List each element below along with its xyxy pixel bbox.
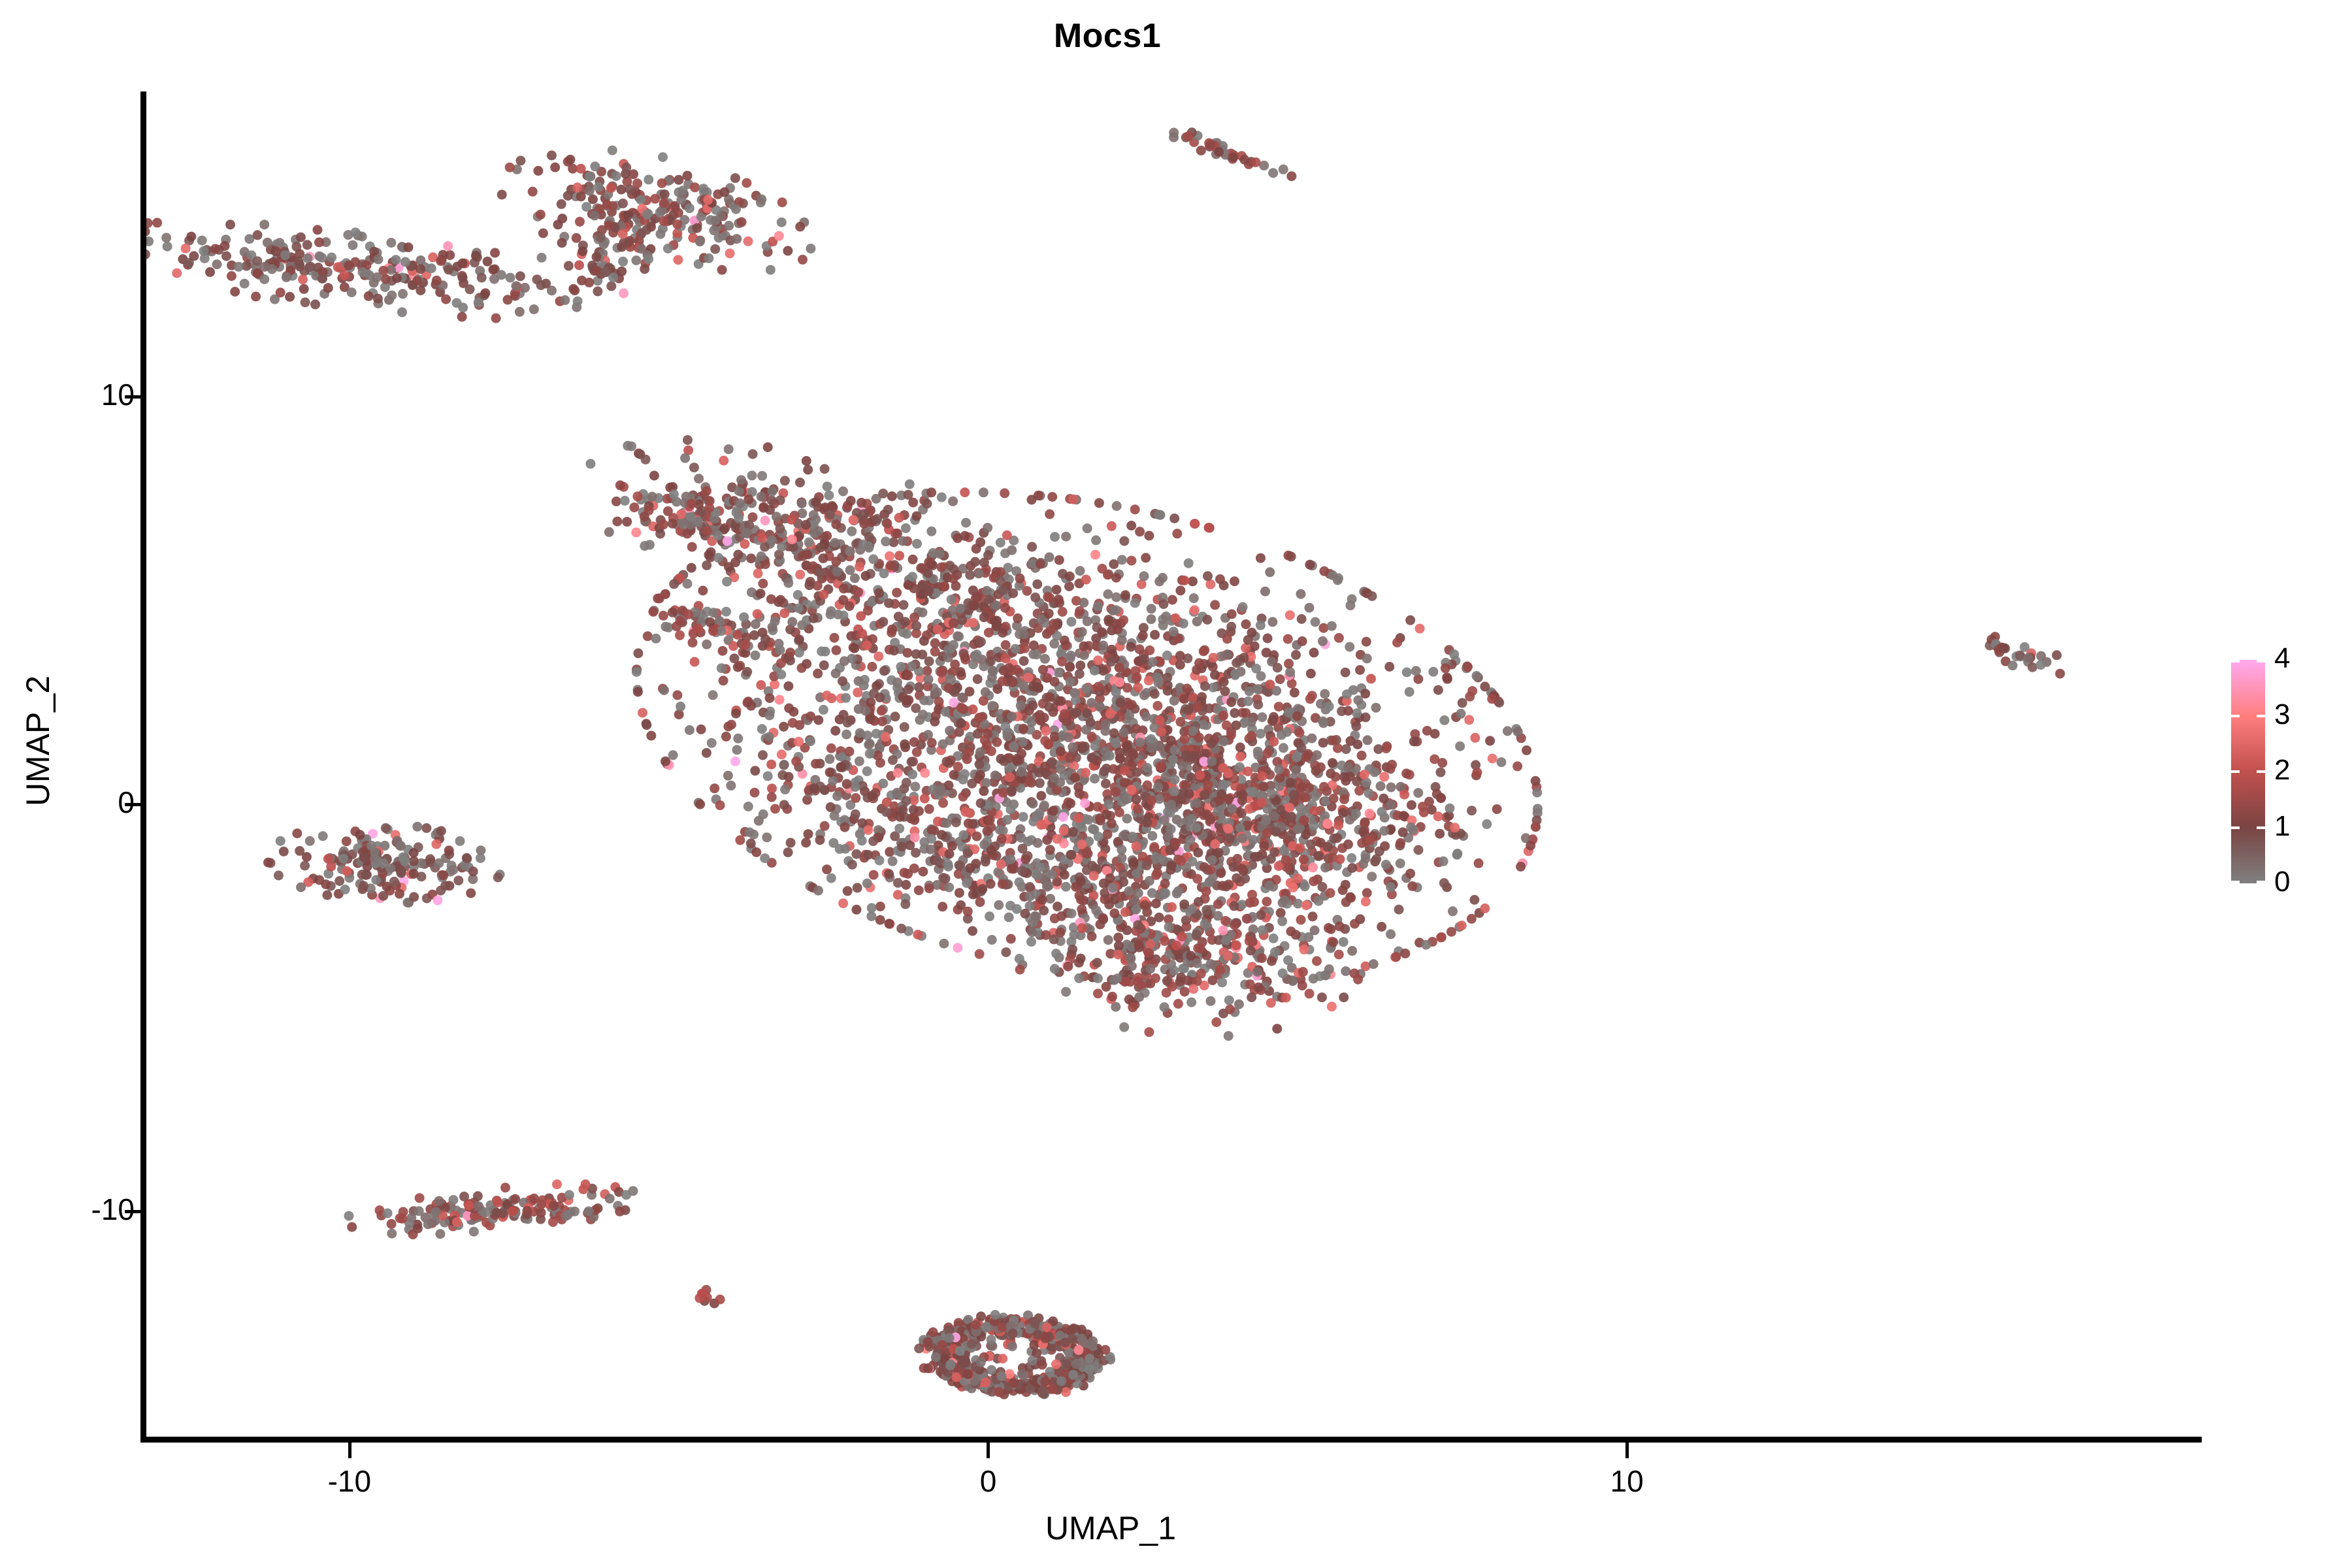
colorbar-tick-label: 1 <box>2274 812 2290 841</box>
colorbar-tick-mark <box>2257 660 2265 662</box>
y-axis-line <box>140 91 146 1443</box>
colorbar-legend: 01234 <box>2231 660 2336 895</box>
x-tick-label: 10 <box>1529 1463 1725 1499</box>
colorbar-tick-mark <box>2257 770 2265 773</box>
colorbar-tick-label: 0 <box>2274 868 2290 896</box>
colorbar-tick-mark <box>2231 881 2240 883</box>
scatter-points-layer <box>145 91 2202 1439</box>
plot-panel <box>145 91 2202 1439</box>
colorbar-tick-label: 4 <box>2274 644 2290 673</box>
page-title: Mocs1 <box>0 18 2215 54</box>
y-axis-title: UMAP_2 <box>19 414 57 1068</box>
colorbar-tick-mark <box>2257 826 2265 829</box>
x-tick-label: -10 <box>252 1463 448 1499</box>
colorbar-tick-mark <box>2231 826 2240 829</box>
y-tick-label: -10 <box>4 1192 135 1227</box>
colorbar-tick-mark <box>2257 881 2265 883</box>
colorbar-tick-mark <box>2231 715 2240 717</box>
x-tick-mark <box>987 1443 990 1458</box>
y-tick-label: 10 <box>4 377 135 412</box>
x-tick-mark <box>348 1443 351 1458</box>
x-axis-line <box>140 1437 2202 1443</box>
x-tick-label: 0 <box>890 1463 1086 1499</box>
colorbar-tick-mark <box>2231 660 2240 662</box>
colorbar-tick-mark <box>2231 770 2240 773</box>
umap-scatter-plot: Mocs1 -10010 -10010 UMAP_1 UMAP_2 <box>0 0 2352 1568</box>
x-tick-mark <box>1625 1443 1629 1458</box>
colorbar-tick-label: 3 <box>2274 700 2290 729</box>
x-axis-title: UMAP_1 <box>0 1509 2221 1547</box>
colorbar-tick-mark <box>2257 715 2265 717</box>
colorbar-tick-label: 2 <box>2274 756 2290 785</box>
